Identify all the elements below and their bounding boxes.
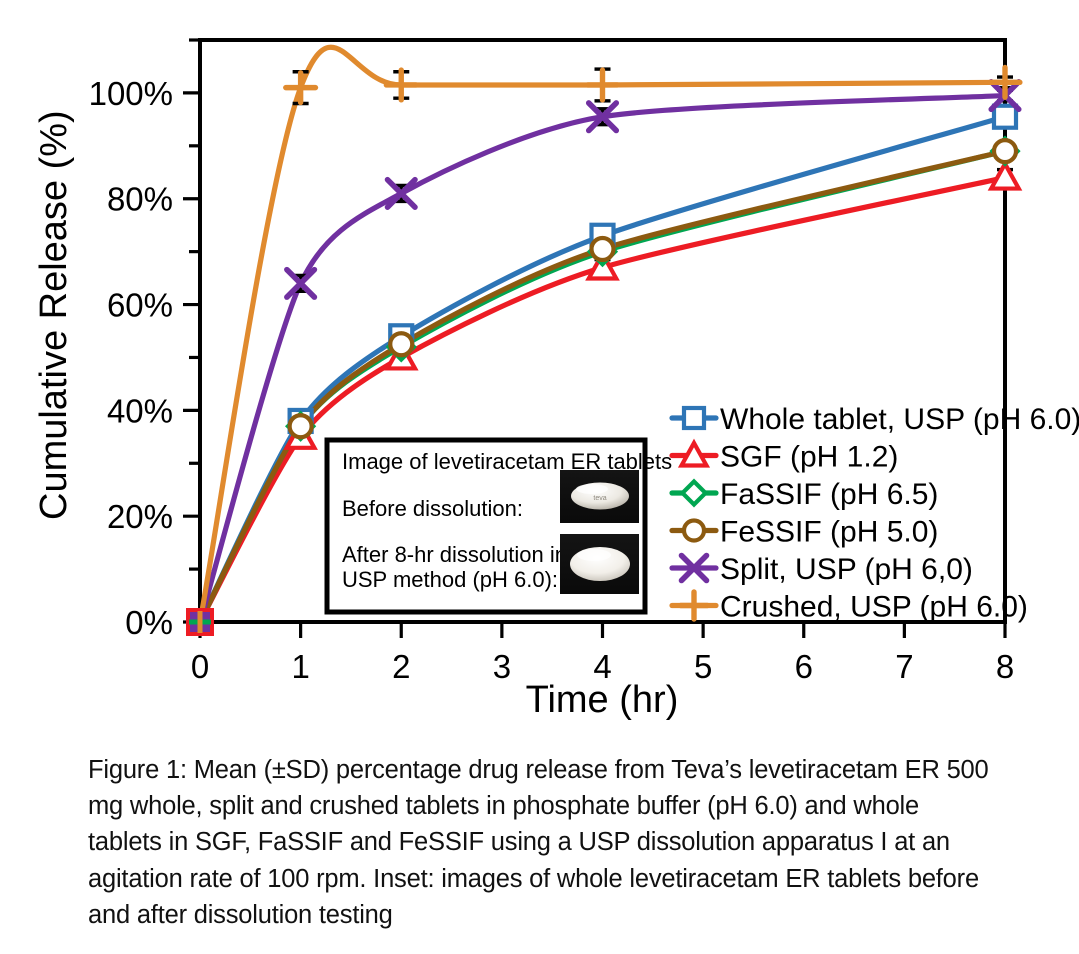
inset-label-after-line1: After 8-hr dissolution in [342,542,567,567]
marker-plus [990,67,1020,97]
legend-label: SGF (pH 1.2) [720,441,898,474]
marker-circle [290,415,312,437]
chart-legend: Whole tablet, USP (pH 6.0)SGF (pH 1.2)Fa… [672,403,1079,624]
legend-label: FaSSIF (pH 6.5) [720,478,938,511]
x-tick-label: 5 [694,648,712,685]
marker-circle [592,238,614,260]
x-tick-label: 7 [895,648,913,685]
legend-item-4[interactable]: Split, USP (pH 6,0) [672,553,973,586]
x-tick-label: 2 [392,648,410,685]
y-tick-label: 80% [107,181,173,218]
y-tick-label: 20% [107,498,173,535]
x-axis-ticks: 012345678 [191,622,1014,685]
tablet-photo-after [560,534,639,594]
marker-circle [684,521,704,541]
inset-panel: Image of levetiracetam ER tablets Before… [327,440,672,612]
y-tick-label: 60% [107,287,173,324]
dissolution-profile-chart: 0%20%40%60%80%100% 012345678 Cumulative … [0,0,1079,740]
legend-item-5[interactable]: Crushed, USP (pH 6.0) [672,591,1028,624]
inset-label-before: Before dissolution: [342,496,523,521]
legend-label: Whole tablet, USP (pH 6.0) [720,403,1079,436]
x-tick-label: 6 [795,648,813,685]
tablet-photo-before: teva [560,470,639,523]
marker-diamond [683,482,706,505]
marker-plus [588,70,618,100]
marker-plus [286,73,316,103]
x-tick-label: 8 [996,648,1014,685]
legend-label: FeSSIF (pH 5.0) [720,516,938,549]
inset-label-after-line2: USP method (pH 6.0): [342,567,558,592]
x-tick-label: 1 [291,648,309,685]
y-tick-label: 40% [107,392,173,429]
x-tick-label: 0 [191,648,209,685]
y-axis-title: Cumulative Release (%) [33,110,75,520]
y-tick-label: 0% [125,604,173,641]
figure-container: 0%20%40%60%80%100% 012345678 Cumulative … [0,0,1079,954]
tablet-imprint: teva [593,495,606,502]
x-tick-label: 3 [493,648,511,685]
x-axis-title: Time (hr) [526,679,679,721]
y-tick-label: 100% [89,75,173,112]
marker-circle [994,140,1016,162]
marker-square [994,106,1016,128]
marker-triangle [991,164,1019,189]
figure-caption: Figure 1: Mean (±SD) percentage drug rel… [88,752,996,933]
y-axis-ticks: 0%20%40%60%80%100% [89,40,200,641]
legend-item-2[interactable]: FaSSIF (pH 6.5) [672,478,938,511]
marker-plus [386,70,416,100]
legend-label: Crushed, USP (pH 6.0) [720,591,1028,624]
marker-circle [390,333,412,355]
marker-square [684,408,704,428]
legend-label: Split, USP (pH 6,0) [720,553,973,586]
legend-item-1[interactable]: SGF (pH 1.2) [672,441,898,474]
marker-plus [681,592,708,619]
origin-marker-cluster [188,610,212,634]
legend-item-0[interactable]: Whole tablet, USP (pH 6.0) [672,403,1079,436]
legend-item-3[interactable]: FeSSIF (pH 5.0) [672,516,938,549]
